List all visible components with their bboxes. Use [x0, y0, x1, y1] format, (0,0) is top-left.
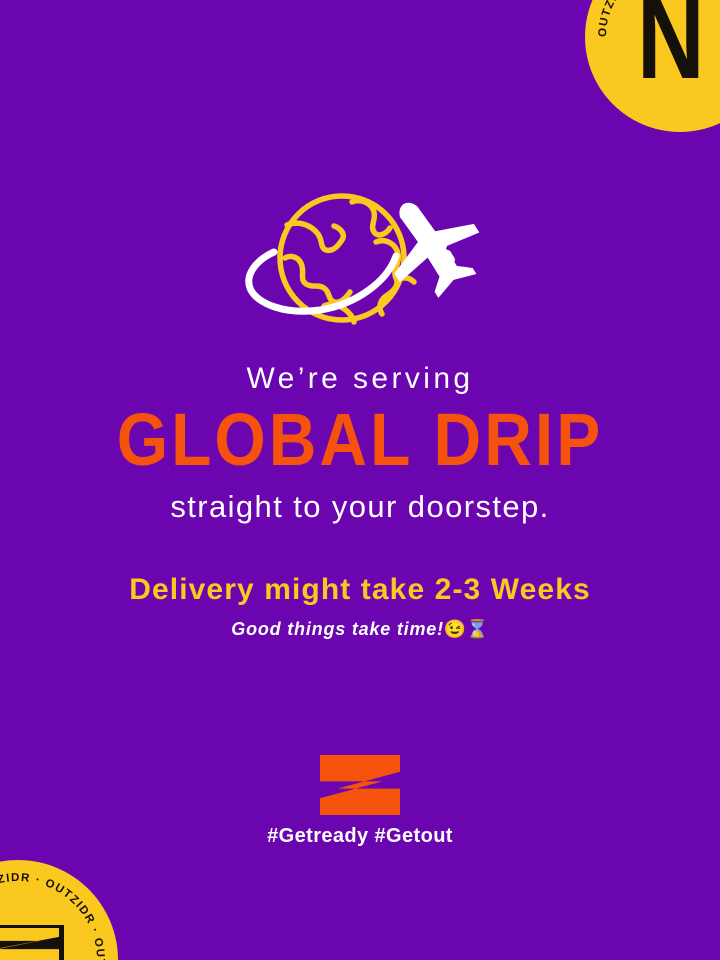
subline-text: straight to your doorstep.: [0, 489, 720, 525]
note-emoji: 😉⌛: [444, 619, 489, 639]
globe-airplane-icon: [230, 180, 490, 340]
note-label: Good things take time!: [231, 619, 444, 639]
delivery-estimate-text: Delivery might take 2-3 Weeks: [0, 573, 720, 608]
eyebrow-text: We’re serving: [0, 362, 720, 395]
hero-graphic: [0, 180, 720, 340]
poster-canvas: OUTZIDR · OUTZIDR · OUTZIDR · OUTZIDR · …: [0, 0, 720, 960]
orbit-trail-icon: [249, 252, 396, 311]
badge-z-mark-icon: [0, 925, 64, 960]
badge-core-bottom-left: OUTZIDR: [0, 860, 118, 960]
badge-center-letter: N: [637, 0, 705, 87]
note-text: Good things take time!😉⌛: [0, 619, 720, 641]
footer-brand: #Getready #Getout: [0, 755, 720, 848]
badge-top-right: OUTZIDR · OUTZIDR · OUTZIDR · OUTZIDR · …: [585, 0, 720, 132]
airplane-icon: [366, 180, 490, 311]
badge-core-top-right: N: [585, 0, 720, 132]
headline-text: GLOBAL DRIP: [0, 401, 720, 479]
badge-bottom-left: OUTZIDR · OUTZIDR · OUTZIDR · OUTZIDR · …: [0, 860, 118, 960]
z-logo-icon: [320, 755, 400, 815]
hashtags-text: #Getready #Getout: [0, 825, 720, 848]
message-block: We’re serving GLOBAL DRIP straight to yo…: [0, 362, 720, 641]
